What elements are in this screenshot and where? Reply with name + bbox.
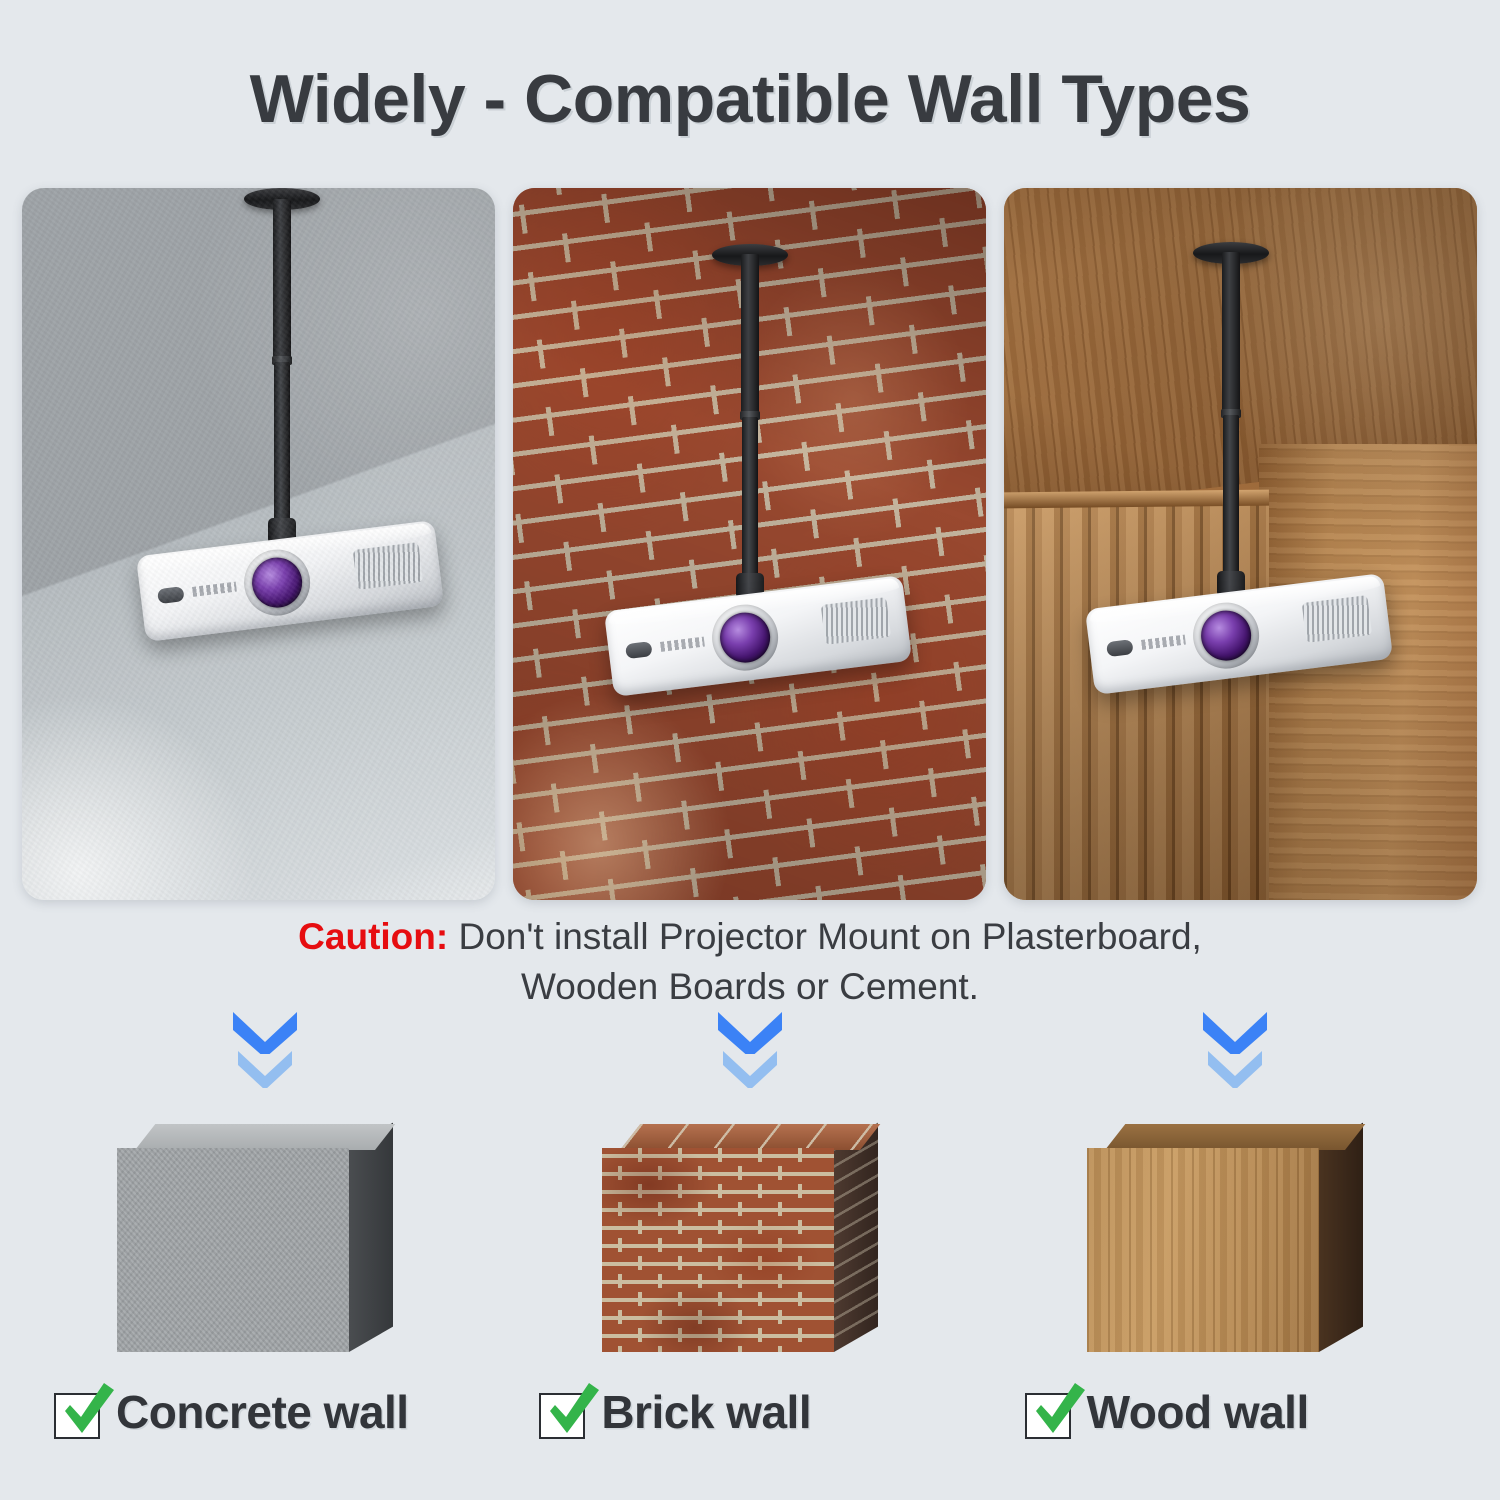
caution-note: Caution: Don't install Projector Mount o…: [0, 912, 1500, 1012]
mount-pole-lower: [274, 362, 290, 524]
wall-type-label-row: Concrete wall Brick wall Wood wall: [22, 1364, 1478, 1460]
projector-vent-grille: [1302, 595, 1372, 643]
arrow-wood: [993, 1008, 1478, 1096]
cube-cell-concrete: [22, 1108, 507, 1354]
concrete-cube-icon: [117, 1124, 413, 1352]
caution-line-1: Caution: Don't install Projector Mount o…: [0, 912, 1500, 962]
cube-cell-wood: [993, 1108, 1478, 1354]
chevron-down-icon-secondary: [1203, 1048, 1267, 1088]
arrow-concrete: [22, 1008, 507, 1096]
mount-pole-upper: [273, 199, 291, 359]
photo-panel-brick: [513, 188, 986, 900]
mount-pole-joint: [272, 356, 292, 365]
mount-pole-lower: [1223, 415, 1239, 577]
checkbox-wood[interactable]: [1025, 1387, 1075, 1437]
mount-collar: [268, 518, 296, 544]
caution-label: Caution:: [298, 916, 448, 957]
wall-type-label: Wood wall: [1087, 1385, 1309, 1439]
caution-text-line2: Wooden Boards or Cement.: [0, 962, 1500, 1012]
projector-ir-sensor: [157, 586, 185, 604]
wall-type-brick[interactable]: Brick wall: [507, 1364, 992, 1460]
projector-lens-ring: [240, 546, 314, 620]
checkbox-brick[interactable]: [539, 1387, 589, 1437]
cube-top-face: [135, 1124, 395, 1150]
cube-side-face: [349, 1123, 393, 1352]
wood-shading: [1004, 188, 1477, 900]
cube-front-face: [602, 1148, 834, 1352]
photo-panel-wood: [1004, 188, 1477, 900]
projector-device: [136, 520, 444, 642]
projector-vent-grille: [353, 542, 423, 590]
wood-cube-icon: [1087, 1124, 1383, 1352]
cube-top-face: [620, 1124, 880, 1150]
projector-logo: [192, 582, 237, 597]
arrow-row: [22, 1008, 1478, 1096]
cube-top-face: [1105, 1124, 1365, 1150]
mount-pole-upper: [741, 254, 759, 414]
projector-vent-grille: [820, 597, 890, 645]
green-check-icon: [1027, 1381, 1089, 1443]
green-check-icon: [541, 1381, 603, 1443]
projector-lens-icon: [249, 555, 305, 611]
cube-front-face: [1087, 1148, 1319, 1352]
chevron-down-icon-secondary: [233, 1048, 297, 1088]
projector-top-highlight: [140, 523, 432, 574]
photo-panel-row: [22, 188, 1478, 900]
photo-panel-concrete: [22, 188, 495, 900]
cube-side-face: [834, 1123, 878, 1352]
ceiling-plate-icon: [244, 188, 320, 210]
cube-cell-brick: [507, 1108, 992, 1354]
wall-type-label: Brick wall: [601, 1385, 811, 1439]
mount-pole-lower: [742, 417, 758, 579]
wall-type-wood[interactable]: Wood wall: [993, 1364, 1478, 1460]
caution-text-line1: Don't install Projector Mount on Plaster…: [448, 916, 1202, 957]
green-check-icon: [56, 1381, 118, 1443]
wall-type-concrete[interactable]: Concrete wall: [22, 1364, 507, 1460]
page-title: Widely - Compatible Wall Types: [0, 60, 1500, 138]
chevron-down-icon-secondary: [718, 1048, 782, 1088]
arrow-brick: [507, 1008, 992, 1096]
brick-cube-icon: [602, 1124, 898, 1352]
cube-row: [22, 1108, 1478, 1354]
projector-lens-icon: [717, 610, 773, 666]
checkbox-concrete[interactable]: [54, 1387, 104, 1437]
projector-body: [136, 520, 444, 642]
wall-type-label: Concrete wall: [116, 1385, 409, 1439]
mount-pole-upper: [1222, 252, 1240, 412]
cube-side-face: [1319, 1123, 1363, 1352]
cube-front-face: [117, 1148, 349, 1352]
projector-lens-icon: [1198, 608, 1254, 664]
